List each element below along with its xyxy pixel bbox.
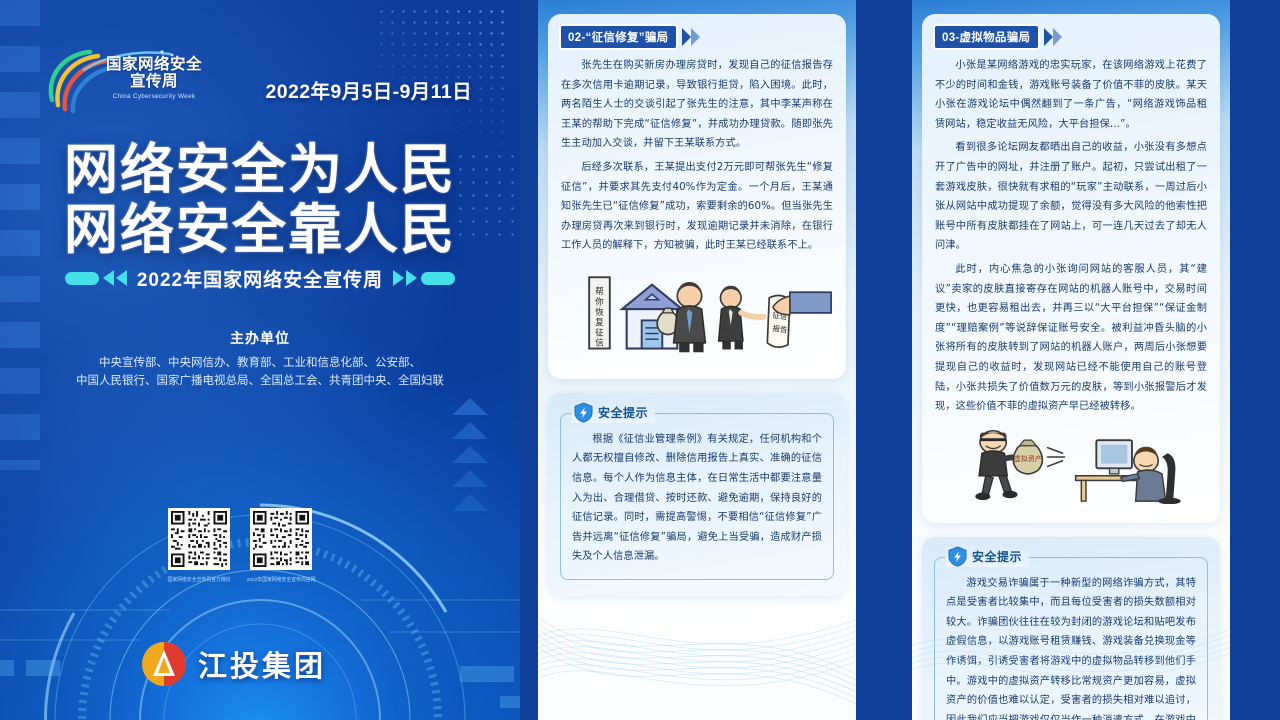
logo-title: 国家网络安全 宣传周: [92, 56, 216, 90]
organizers-heading: 主办单位: [0, 328, 520, 348]
ribbon-text: 2022年国家网络安全宣传周: [137, 265, 383, 292]
credit-repair-scam-illustration: 帮 你 恢 复 征 信: [561, 266, 833, 360]
safety-tip-header: 安全提示: [945, 546, 1029, 567]
story-card-02: 02-“征信修复”骗局 张先生在购买新房办理房贷时，发现自己的征信报告存在多次信…: [548, 14, 846, 379]
svg-text:征: 征: [595, 327, 604, 337]
organizers-line-1: 中央宣传部、中央网信办、教育部、工业和信息化部、公安部、: [0, 355, 520, 372]
story-paragraph: 此时，内心焦急的小张询问网站的客服人员，其“建议”卖家的皮肤直接寄存在网站的机器…: [935, 260, 1207, 417]
chevron-right-icon-secondary: [1053, 28, 1062, 46]
story-paragraph: 小张是某网络游戏的忠实玩家，在该网络游戏上花费了不少的时间和金钱，游戏账号装备了…: [935, 56, 1207, 134]
qr-code-icon[interactable]: [168, 508, 230, 570]
safety-tip-heading: 安全提示: [972, 548, 1022, 565]
qr-code-caption: 2022年国家网络安全宣传周官网: [239, 577, 323, 584]
chevron-right-icon-secondary: [691, 28, 700, 46]
safety-tip-heading: 安全提示: [598, 404, 648, 421]
organizers-line-2: 中国人民银行、国家广播电视总局、全国总工会、共青团中央、全国妇联: [0, 373, 520, 390]
chevron-right-icon: [1044, 28, 1053, 46]
story-paragraph: 看到很多论坛网友都晒出自己的收益，小张没有多想点开了广告中的网址，并注册了账户。…: [935, 138, 1207, 256]
safety-tip-header: 安全提示: [571, 402, 655, 423]
story-card-03: 03-虚拟物品骗局 小张是某网络游戏的忠实玩家，在该网络游戏上花费了不少的时间和…: [922, 14, 1220, 523]
svg-text:虚拟资产: 虚拟资产: [1014, 453, 1042, 462]
company-logo-text: 江投集团: [198, 643, 326, 685]
qr-code-caption: 国家网络安全宣传周官方微信: [157, 577, 241, 584]
qr-code-item[interactable]: 国家网络安全宣传周官方微信: [168, 508, 230, 582]
article-panel-02: 02-“征信修复”骗局 张先生在购买新房办理房贷时，发现自己的征信报告存在多次信…: [538, 0, 856, 720]
company-mark-icon: [140, 640, 188, 688]
shield-lightning-icon: [948, 546, 967, 567]
safety-tip-card-02: 安全提示 根据《征信业管理条例》有关规定，任何机构和个人都无权擅自修改、删除信用…: [548, 393, 846, 596]
poster-headline: 网络安全为人民 网络安全靠人民: [0, 140, 520, 260]
organizers-block: 主办单位 中央宣传部、中央网信办、教育部、工业和信息化部、公安部、 中国人民银行…: [0, 328, 520, 390]
safety-tip-text: 根据《征信业管理条例》有关规定，任何机构和个人都无权擅自修改、删除信用报告上真实…: [572, 430, 822, 567]
article-panel-03: 03-虚拟物品骗局 小张是某网络游戏的忠实玩家，在该网络游戏上花费了不少的时间和…: [912, 0, 1230, 720]
safety-tip-box: 安全提示 根据《征信业管理条例》有关规定，任何机构和个人都无权擅自修改、删除信用…: [560, 413, 834, 580]
svg-text:你: 你: [595, 296, 604, 306]
story-paragraph: 张先生在购买新房办理房贷时，发现自己的征信报告存在多次信用卡逾期记录，导致银行拒…: [561, 56, 833, 154]
section-badge-02: 02-“征信修复”骗局: [561, 26, 700, 48]
svg-text:帮: 帮: [595, 286, 603, 296]
svg-text:恢: 恢: [595, 307, 604, 317]
qr-code-icon[interactable]: [250, 508, 312, 570]
section-badge-label: 02-“征信修复”骗局: [561, 26, 676, 48]
wave-decoration: [538, 570, 856, 720]
chevron-arrow-decoration: [452, 398, 488, 518]
svg-text:复: 复: [595, 317, 604, 327]
ribbon-left-arrows: [65, 270, 127, 286]
wave-decoration: [912, 570, 1230, 720]
event-date-range: 2022年9月5日-9月11日: [265, 75, 472, 104]
company-logo: 江投集团: [140, 640, 326, 688]
shield-lightning-icon: [574, 402, 593, 423]
poster-collage: 国家网络安全 宣传周 China Cybersecurity Week 2022…: [0, 0, 1280, 720]
headline-line-2: 网络安全靠人民: [0, 200, 520, 260]
section-badge-label: 03-虚拟物品骗局: [935, 26, 1038, 48]
svg-text:信: 信: [595, 338, 603, 348]
national-cybersecurity-week-logo: 国家网络安全 宣传周 China Cybersecurity Week: [44, 48, 219, 114]
qr-code-group: 国家网络安全宣传周官方微信: [168, 508, 348, 582]
logo-subtitle-en: China Cybersecurity Week: [92, 93, 216, 100]
story-paragraph: 后经多次联系，王某提出支付2万元即可帮张先生“修复征信”，并要求其先支付40%作…: [561, 158, 833, 256]
virtual-asset-theft-illustration: 虚拟资产: [935, 427, 1207, 504]
ribbon-right-arrows: [393, 270, 455, 286]
subtitle-ribbon: 2022年国家网络安全宣传周: [0, 263, 520, 293]
chevron-right-icon: [682, 28, 691, 46]
cybersecurity-week-poster: 国家网络安全 宣传周 China Cybersecurity Week 2022…: [0, 0, 520, 720]
section-badge-03: 03-虚拟物品骗局: [935, 26, 1062, 48]
qr-code-item[interactable]: 2022年国家网络安全宣传周官网: [250, 508, 312, 582]
headline-line-1: 网络安全为人民: [0, 140, 520, 200]
